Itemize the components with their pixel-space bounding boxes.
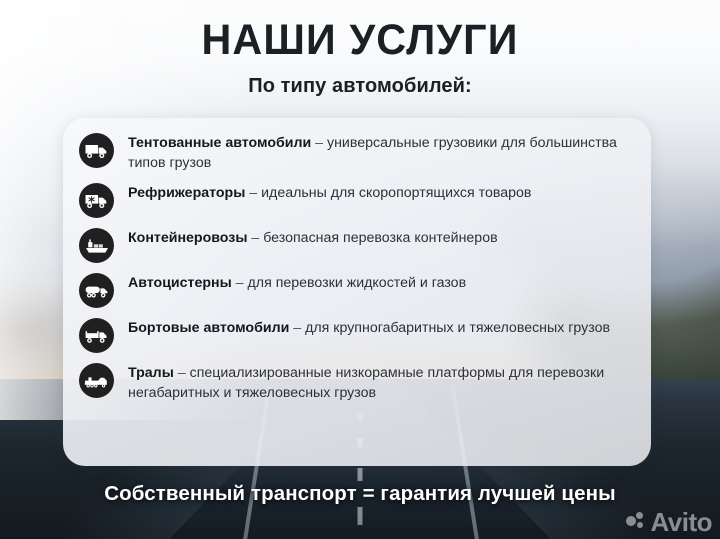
tanker-truck-icon [79, 273, 114, 308]
header: НАШИ УСЛУГИ По типу автомобилей: [0, 0, 720, 98]
flatbed-truck-icon [79, 318, 114, 353]
service-description: для крупногабаритных и тяжеловесных груз… [305, 320, 610, 336]
list-item: Контейнеровозы – безопасная перевозка ко… [79, 227, 627, 263]
list-item-text: Рефрижераторы – идеальны для скоропортящ… [128, 182, 531, 204]
service-description: безопасная перевозка контейнеров [263, 230, 497, 246]
list-item-text: Автоцистерны – для перевозки жидкостей и… [128, 272, 466, 294]
avito-dots-icon [626, 511, 648, 533]
slogan-text: Собственный транспорт = гарантия лучшей … [0, 482, 720, 506]
refrigerator-truck-icon [79, 183, 114, 218]
lowbed-trailer-icon [79, 363, 114, 398]
container-ship-icon [79, 228, 114, 263]
service-description: специализированные низкорамные платформы… [128, 365, 604, 401]
service-name: Автоцистерны [128, 275, 232, 291]
service-name: Тралы [128, 365, 174, 381]
avito-watermark: Avito [626, 511, 712, 533]
box-truck-icon [79, 133, 114, 168]
dash-separator: – [311, 135, 327, 151]
dash-separator: – [245, 185, 261, 201]
service-poster: НАШИ УСЛУГИ По типу автомобилей: Тентова… [0, 0, 720, 539]
dash-separator: – [232, 275, 248, 291]
list-item-text: Тентованные автомобили – универсальные г… [128, 132, 627, 173]
service-name: Бортовые автомобили [128, 320, 289, 336]
list-item: Тралы – специализированные низкорамные п… [79, 362, 627, 403]
dash-separator: – [174, 365, 190, 381]
services-card: Тентованные автомобили – универсальные г… [63, 118, 651, 466]
service-name: Контейнеровозы [128, 230, 247, 246]
list-item-text: Контейнеровозы – безопасная перевозка ко… [128, 227, 498, 249]
list-item: Рефрижераторы – идеальны для скоропортящ… [79, 182, 627, 218]
page-title: НАШИ УСЛУГИ [14, 18, 705, 63]
service-description: для перевозки жидкостей и газов [248, 275, 467, 291]
list-item: Автоцистерны – для перевозки жидкостей и… [79, 272, 627, 308]
dash-separator: – [247, 230, 263, 246]
service-name: Тентованные автомобили [128, 135, 311, 151]
list-item-text: Бортовые автомобили – для крупногабаритн… [128, 317, 610, 339]
service-description: идеальны для скоропортящихся товаров [261, 185, 531, 201]
dash-separator: – [289, 320, 305, 336]
list-item: Тентованные автомобили – универсальные г… [79, 132, 627, 173]
page-subtitle: По типу автомобилей: [0, 75, 720, 98]
list-item-text: Тралы – специализированные низкорамные п… [128, 362, 627, 403]
avito-wordmark: Avito [650, 511, 712, 533]
list-item: Бортовые автомобили – для крупногабаритн… [79, 317, 627, 353]
service-name: Рефрижераторы [128, 185, 245, 201]
